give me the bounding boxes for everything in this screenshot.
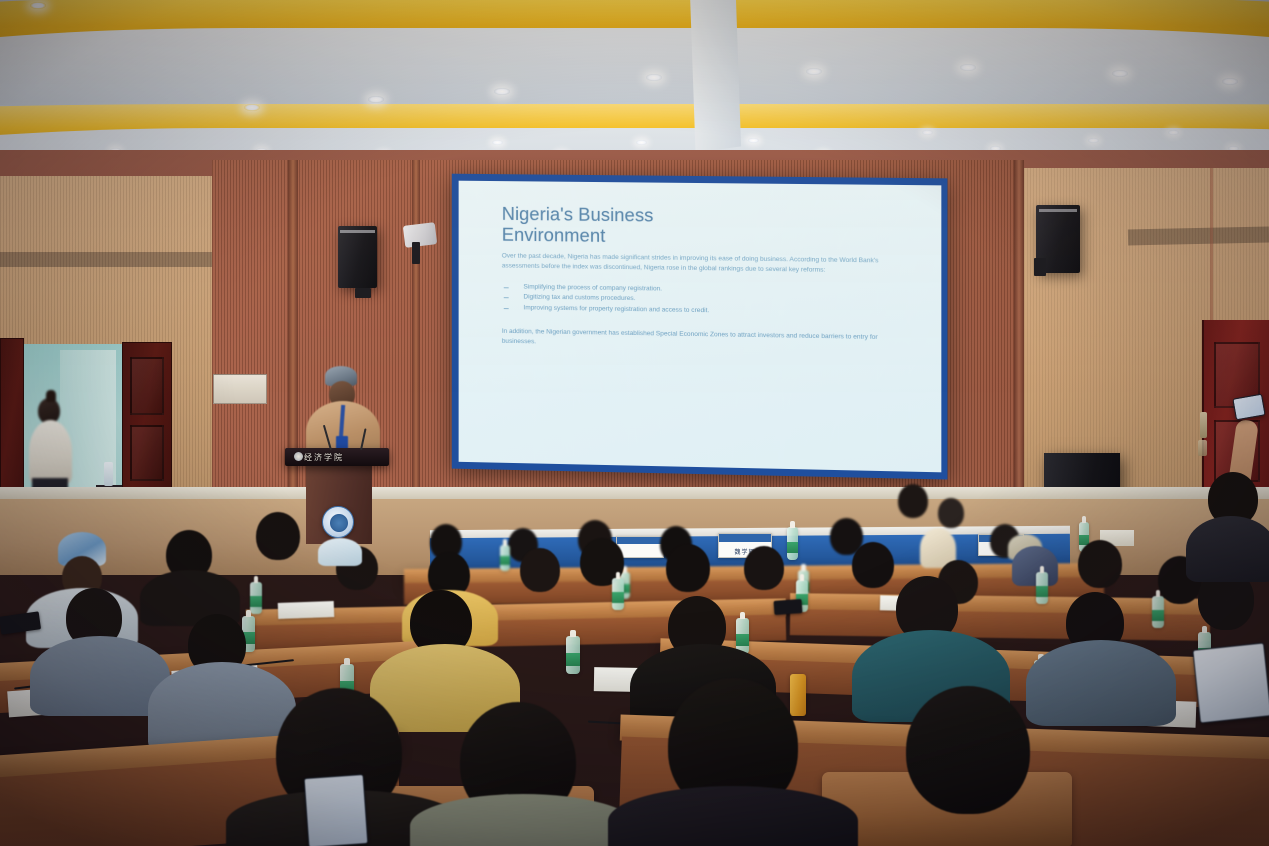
- downlight: [748, 138, 759, 143]
- downlight: [494, 88, 510, 95]
- audience-cap: [318, 538, 362, 566]
- placard-header-bar: [719, 534, 771, 542]
- audience-shoulders: [1026, 640, 1176, 726]
- audience-head: [1078, 540, 1122, 588]
- water-bottle: [566, 636, 580, 674]
- stage-skirting: [0, 487, 1269, 499]
- downlight: [492, 140, 503, 145]
- downlight: [646, 74, 662, 81]
- wall-speaker-left: [338, 226, 377, 288]
- podium-label: 经济学院: [304, 452, 344, 463]
- water-bottle: [500, 545, 510, 571]
- downlight: [1222, 78, 1238, 85]
- corridor-bottle: [104, 462, 113, 486]
- spotlight-arm: [412, 242, 420, 264]
- downlight: [30, 2, 46, 9]
- screen-surface: Nigeria's Business Environment Over the …: [459, 181, 942, 473]
- downlight: [1088, 138, 1099, 143]
- audience-headscarf: [1012, 546, 1058, 586]
- speaker-bracket-right: [1034, 258, 1046, 276]
- conference-hall-photo: Nigeria's Business Environment Over the …: [0, 0, 1269, 846]
- door-lock-plate: [1198, 440, 1207, 456]
- ceiling-beam: [690, 0, 741, 153]
- slide-bullet-list: Simplifying the process of company regis…: [502, 282, 911, 320]
- photographer-shoulders: [1186, 516, 1269, 582]
- slide-closing-paragraph: In addition, the Nigerian government has…: [502, 327, 902, 353]
- door-handle[interactable]: [1200, 412, 1207, 438]
- audience-head: [520, 548, 560, 592]
- stage-spotlight: [403, 222, 437, 248]
- podium-crest-icon: [322, 506, 354, 538]
- audience-head: [852, 542, 894, 588]
- downlight: [960, 64, 976, 71]
- water-bottle: [1036, 572, 1048, 604]
- slide-title: Nigeria's Business Environment: [502, 203, 911, 251]
- downlight: [244, 104, 260, 111]
- water-bottle: [250, 582, 262, 614]
- water-bottle: [787, 527, 798, 560]
- projection-screen: Nigeria's Business Environment Over the …: [452, 174, 948, 480]
- notepad: [278, 601, 335, 619]
- downlight: [806, 68, 822, 75]
- downlight: [1168, 130, 1179, 135]
- podium-logo-icon: [294, 452, 303, 461]
- audience-head: [938, 498, 964, 528]
- downlight: [922, 130, 933, 135]
- mobile-phone-foreground[interactable]: [304, 774, 369, 846]
- downlight: [1112, 70, 1128, 77]
- audience-head: [666, 544, 710, 592]
- downlight: [368, 96, 384, 103]
- foreground-head: [906, 686, 1030, 814]
- juice-bottle: [790, 674, 806, 716]
- downlight: [636, 140, 647, 145]
- slide-intro-paragraph: Over the past decade, Nigeria has made s…: [502, 251, 910, 276]
- mobile-phone[interactable]: [774, 599, 803, 615]
- speaker-bracket-left: [355, 288, 371, 298]
- audience-head: [898, 484, 928, 518]
- audience-head: [256, 512, 300, 560]
- water-bottle: [1152, 596, 1164, 628]
- tablet-foreground[interactable]: [1192, 642, 1269, 723]
- water-bottle: [612, 578, 624, 610]
- desk-face: [790, 609, 1210, 641]
- wall-panel-vent: [213, 374, 267, 404]
- placard-header-bar: [617, 537, 663, 544]
- audience-head: [744, 546, 784, 590]
